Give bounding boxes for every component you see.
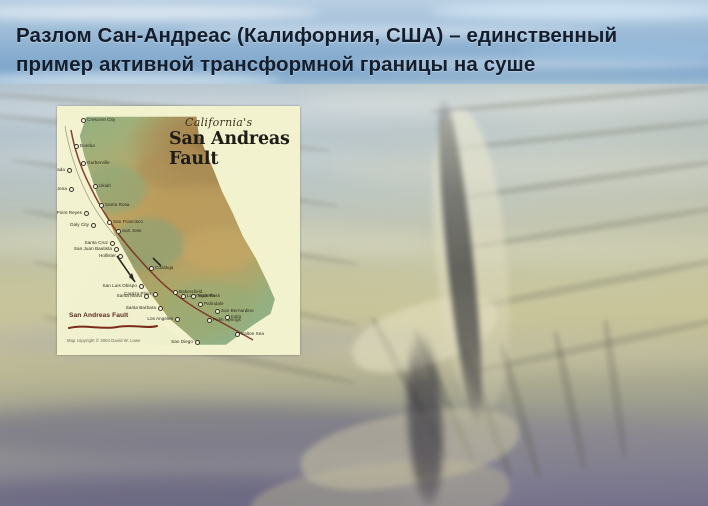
cloud-streak-icon <box>430 2 708 20</box>
city-marker[interactable] <box>225 315 230 320</box>
legend-label: San Andreas Fault <box>69 312 128 319</box>
city-marker[interactable] <box>195 340 200 345</box>
city-label: San Luis Obispo <box>103 283 137 288</box>
city-label: Santa Cruz <box>85 240 108 245</box>
city-label: Point Arena <box>57 186 67 191</box>
city-marker[interactable] <box>81 161 86 166</box>
city-label: Tejon Pass <box>197 293 220 298</box>
city-marker[interactable] <box>153 292 158 297</box>
city-marker[interactable] <box>67 168 72 173</box>
city-marker[interactable] <box>114 247 119 252</box>
city-label: Hollister <box>99 253 116 258</box>
city-label: Coalinga <box>155 265 174 270</box>
city-label: Crescent City <box>87 117 115 122</box>
city-label: San Diego <box>171 339 193 344</box>
city-marker[interactable] <box>158 306 163 311</box>
slide-root: Разлом Сан-Андреас (Калифорния, США) – е… <box>0 0 708 506</box>
city-label: Santa Maria <box>117 293 142 298</box>
map-main-title: San Andreas Fault <box>169 129 300 169</box>
city-marker[interactable] <box>198 302 203 307</box>
city-marker[interactable] <box>81 118 86 123</box>
city-label: Indio <box>231 314 241 319</box>
map-inset[interactable]: California's San Andreas Fault Crescent … <box>57 106 300 355</box>
city-marker[interactable] <box>110 241 115 246</box>
city-marker[interactable] <box>91 223 96 228</box>
city-marker[interactable] <box>181 294 186 299</box>
city-label: Santa Barbara <box>126 305 156 310</box>
city-label: Ukiah <box>99 183 111 188</box>
valley-shading <box>112 218 184 271</box>
fault-arrow-head-icon <box>129 273 135 282</box>
map-script-title: California's <box>185 116 252 129</box>
map-credit-text: Map copyright © 2004 David W. Lowe <box>67 338 141 343</box>
city-marker[interactable] <box>99 203 104 208</box>
legend-line-icon <box>67 323 159 331</box>
mountain-shading <box>179 227 260 270</box>
city-marker[interactable] <box>215 309 220 314</box>
city-label: Point Delgada <box>57 167 65 172</box>
city-label: Los Angeles <box>147 316 173 321</box>
city-marker[interactable] <box>139 284 144 289</box>
city-marker[interactable] <box>93 184 98 189</box>
cloud-streak-icon <box>0 6 320 20</box>
city-marker[interactable] <box>118 254 123 259</box>
mountain-shading <box>158 184 239 227</box>
city-marker[interactable] <box>107 220 112 225</box>
city-label: Eureka <box>80 143 95 148</box>
city-marker[interactable] <box>175 317 180 322</box>
city-marker[interactable] <box>235 332 240 337</box>
city-marker[interactable] <box>74 144 79 149</box>
city-marker[interactable] <box>149 266 154 271</box>
city-marker[interactable] <box>207 318 212 323</box>
city-marker[interactable] <box>191 294 196 299</box>
city-label: Santa Rosa <box>105 202 130 207</box>
city-label: Daly City <box>70 222 89 227</box>
city-label: Point Reyes <box>57 210 82 215</box>
city-marker[interactable] <box>144 294 149 299</box>
city-label: San Bernardino <box>221 308 254 313</box>
city-label: Garberville <box>87 160 110 165</box>
city-label: Palmdale <box>204 301 224 306</box>
title-line-1: Разлом Сан-Андреас (Калифорния, США) – е… <box>16 24 617 47</box>
city-label: Salton Sea <box>241 331 264 336</box>
title-line-2: пример активной трансформной границы на … <box>16 50 676 79</box>
city-label: San Francisco <box>113 219 143 224</box>
city-marker[interactable] <box>69 187 74 192</box>
valley-shading <box>167 280 252 333</box>
city-marker[interactable] <box>173 290 178 295</box>
city-label: San Jose <box>122 228 142 233</box>
page-title: Разлом Сан-Андреас (Калифорния, США) – е… <box>16 21 676 79</box>
city-label: San Juan Bautista <box>74 246 112 251</box>
map-canvas: California's San Andreas Fault Crescent … <box>57 106 300 355</box>
city-marker[interactable] <box>84 211 89 216</box>
city-marker[interactable] <box>116 229 121 234</box>
